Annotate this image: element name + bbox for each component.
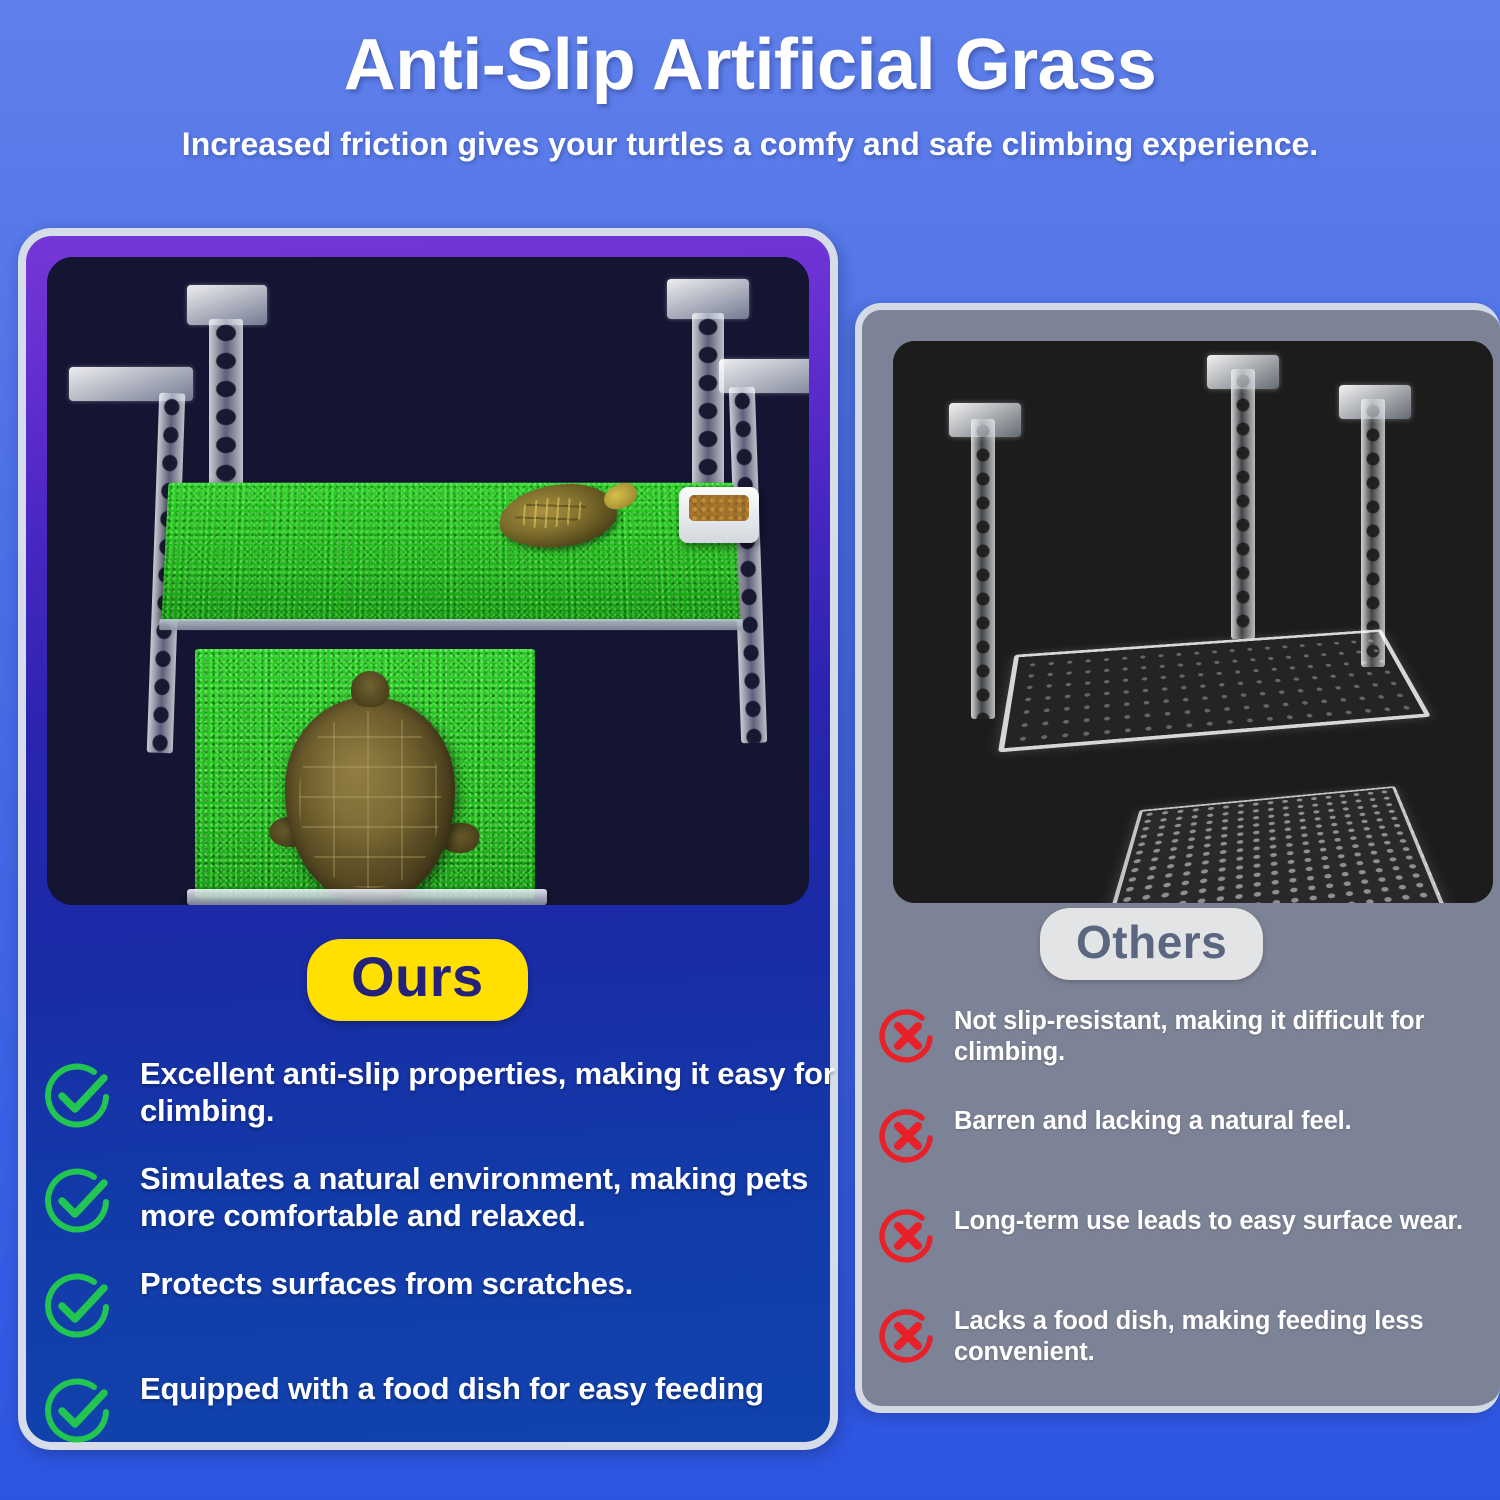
ours-comparison-card: Ours Excellent anti-slip properties, mak…	[18, 228, 838, 1450]
page-subtitle: Increased friction gives your turtles a …	[0, 126, 1500, 163]
food-dish	[679, 487, 759, 543]
others-product-photo	[893, 341, 1493, 903]
list-item: Not slip-resistant, making it difficult …	[876, 1002, 1486, 1068]
x-circle-icon	[876, 1102, 954, 1168]
check-circle-icon	[38, 1367, 140, 1449]
ours-product-photo	[47, 257, 809, 905]
artificial-grass-upper-platform	[161, 483, 740, 621]
acrylic-post-center	[1231, 369, 1255, 639]
list-item: Protects surfaces from scratches.	[38, 1262, 838, 1344]
others-drawbacks-list: Not slip-resistant, making it difficult …	[876, 1002, 1486, 1402]
check-circle-icon	[38, 1262, 140, 1344]
others-badge: Others	[1040, 908, 1263, 980]
check-circle-icon	[38, 1157, 140, 1239]
ours-badge: Ours	[307, 939, 528, 1021]
list-item-label: Simulates a natural environment, making …	[140, 1157, 838, 1234]
x-circle-icon	[876, 1002, 954, 1068]
others-comparison-card: Others Not slip-resistant, making it dif…	[855, 303, 1500, 1413]
x-circle-icon	[876, 1202, 954, 1268]
acrylic-base-plate	[187, 889, 547, 905]
list-item: Lacks a food dish, making feeding less c…	[876, 1302, 1486, 1368]
list-item-label: Not slip-resistant, making it difficult …	[954, 1002, 1486, 1068]
list-item-label: Equipped with a food dish for easy feedi…	[140, 1367, 764, 1407]
list-item: Long-term use leads to easy surface wear…	[876, 1202, 1486, 1268]
list-item-label: Lacks a food dish, making feeding less c…	[954, 1302, 1486, 1368]
turtle-large	[285, 697, 455, 902]
list-item-label: Barren and lacking a natural feel.	[954, 1102, 1352, 1137]
acrylic-post-right	[1361, 399, 1385, 667]
list-item-label: Long-term use leads to easy surface wear…	[954, 1202, 1463, 1237]
list-item: Barren and lacking a natural feel.	[876, 1102, 1486, 1168]
acrylic-clamp-center	[1207, 355, 1279, 389]
x-circle-icon	[876, 1302, 954, 1368]
list-item: Simulates a natural environment, making …	[38, 1157, 838, 1239]
ours-features-list: Excellent anti-slip properties, making i…	[38, 1052, 838, 1472]
list-item-label: Protects surfaces from scratches.	[140, 1262, 633, 1302]
list-item: Excellent anti-slip properties, making i…	[38, 1052, 838, 1134]
list-item-label: Excellent anti-slip properties, making i…	[140, 1052, 838, 1129]
page-title: Anti-Slip Artificial Grass	[0, 28, 1500, 104]
acrylic-clamp-left	[949, 403, 1021, 437]
header-banner: Anti-Slip Artificial Grass Increased fri…	[0, 0, 1500, 215]
support-leg-top-right	[692, 313, 724, 509]
list-item: Equipped with a food dish for easy feedi…	[38, 1367, 838, 1449]
support-leg-top-left	[209, 319, 243, 509]
acrylic-post-left	[971, 419, 995, 719]
acrylic-clamp-right	[1339, 385, 1411, 419]
check-circle-icon	[38, 1052, 140, 1134]
